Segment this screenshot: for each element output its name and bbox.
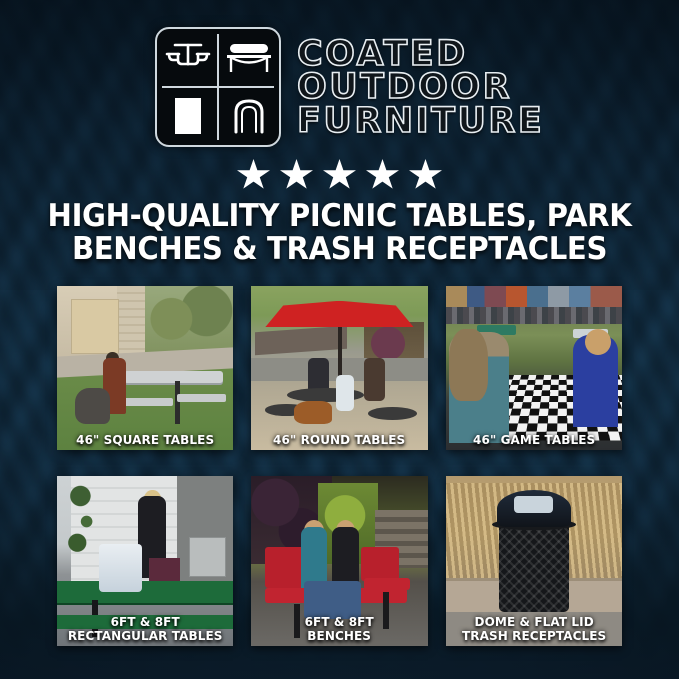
promotional-banner: COATED OUTDOOR FURNITURE HIGH-QUALITY PI… <box>0 0 679 679</box>
product-tile-benches[interactable]: 6FT & 8FT BENCHES <box>251 476 427 646</box>
headline-line-2: BENCHES & TRASH RECEPTACLES <box>20 233 658 266</box>
bench-icon <box>218 29 279 87</box>
product-caption: 6FT & 8FT BENCHES <box>255 615 424 642</box>
caption-line-1: 46" GAME TABLES <box>453 433 615 447</box>
product-caption: DOME & FLAT LID TRASH RECEPTACLES <box>449 615 618 642</box>
bike-rack-icon <box>218 87 279 145</box>
star-icon <box>323 159 356 191</box>
caption-line-1: DOME & FLAT LID <box>453 615 615 629</box>
brand-name-line-1: COATED <box>297 38 544 72</box>
product-tile-game-tables[interactable]: 46" GAME TABLES <box>446 286 622 450</box>
round-table-photo <box>251 286 427 450</box>
headline-line-1: HIGH-QUALITY PICNIC TABLES, PARK <box>48 198 632 234</box>
brand-name: COATED OUTDOOR FURNITURE <box>297 38 544 139</box>
product-tile-round-tables[interactable]: 46" ROUND TABLES <box>251 286 427 450</box>
brand-logo: COATED OUTDOOR FURNITURE <box>155 27 544 147</box>
product-caption: 46" ROUND TABLES <box>255 433 424 447</box>
brand-name-line-2: OUTDOOR <box>297 71 544 105</box>
trash-receptacle-icon <box>157 87 218 145</box>
coated-outdoor-furniture-logo-icon <box>155 27 281 147</box>
brand-name-line-3: FURNITURE <box>297 105 544 139</box>
product-tile-rectangular-tables[interactable]: 6FT & 8FT RECTANGULAR TABLES <box>57 476 233 646</box>
product-grid: 46" SQUARE TABLES 46" ROUND TABLES <box>57 286 622 646</box>
caption-line-1: 6FT & 8FT <box>259 615 421 629</box>
star-icon <box>366 159 399 191</box>
caption-line-2: TRASH RECEPTACLES <box>453 629 615 643</box>
product-tile-trash-receptacles[interactable]: DOME & FLAT LID TRASH RECEPTACLES <box>446 476 622 646</box>
banner-content: COATED OUTDOOR FURNITURE HIGH-QUALITY PI… <box>0 0 679 679</box>
star-icon <box>280 159 313 191</box>
product-caption: 46" GAME TABLES <box>449 433 618 447</box>
star-icon <box>237 159 270 191</box>
star-rating <box>0 159 679 191</box>
game-table-photo <box>446 286 622 450</box>
square-table-photo <box>57 286 233 450</box>
product-tile-square-tables[interactable]: 46" SQUARE TABLES <box>57 286 233 450</box>
caption-line-2: RECTANGULAR TABLES <box>64 629 226 643</box>
product-caption: 46" SQUARE TABLES <box>61 433 230 447</box>
product-caption: 6FT & 8FT RECTANGULAR TABLES <box>61 615 230 642</box>
caption-line-1: 6FT & 8FT <box>64 615 226 629</box>
caption-line-1: 46" SQUARE TABLES <box>64 433 226 447</box>
picnic-table-icon <box>157 29 218 87</box>
star-icon <box>409 159 442 191</box>
caption-line-1: 46" ROUND TABLES <box>259 433 421 447</box>
caption-line-2: BENCHES <box>259 629 421 643</box>
page-title: HIGH-QUALITY PICNIC TABLES, PARK BENCHES… <box>20 200 658 266</box>
